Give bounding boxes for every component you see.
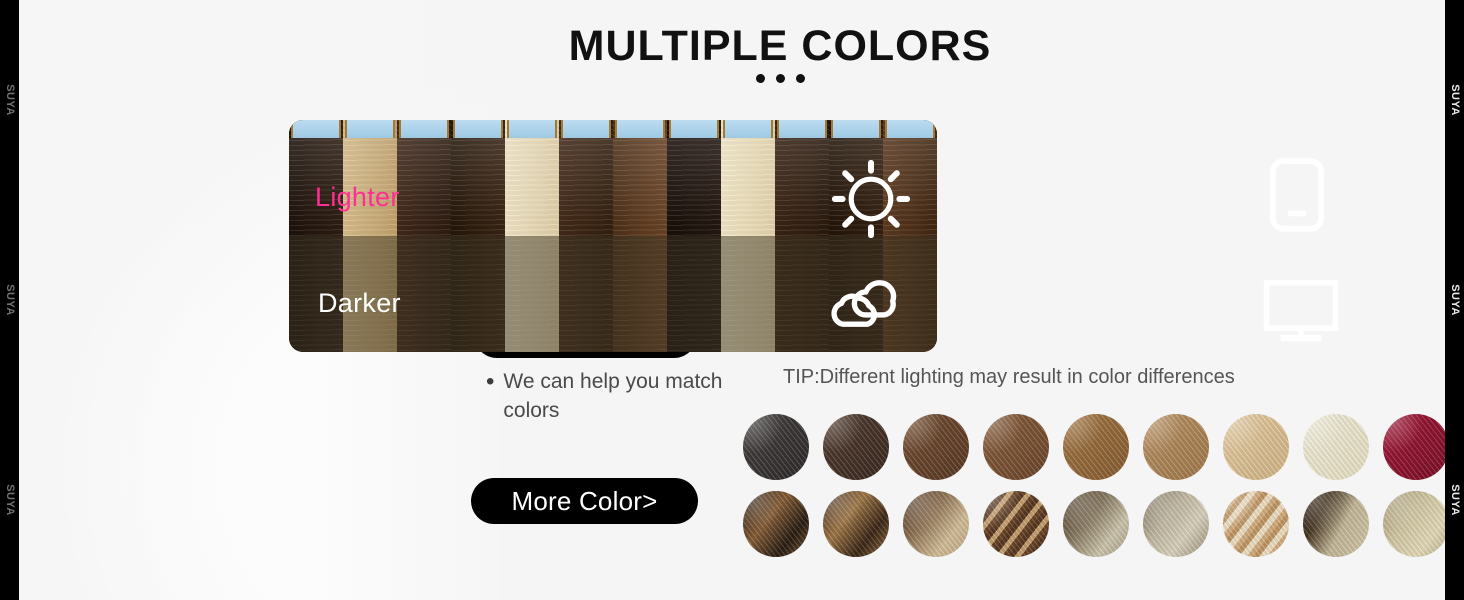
brand-watermark: SUYA	[1449, 84, 1461, 116]
sun-icon	[828, 156, 914, 242]
tape-tab	[291, 120, 341, 138]
watermark-slot: SUYA	[1445, 65, 1464, 135]
brand-watermark: SUYA	[1449, 484, 1461, 516]
hair-gloss	[1383, 414, 1423, 454]
promo-banner: SUYA SUYA SUYA SUYA SUYA SUYA	[0, 0, 1464, 600]
swatch-honey-blonde-striped[interactable]	[1223, 491, 1289, 557]
watermark-slot: SUYA	[0, 465, 19, 535]
swatch-dark-blonde[interactable]	[1223, 414, 1289, 480]
lighter-label: Lighter	[315, 182, 400, 213]
swatch-jet-black[interactable]	[743, 414, 809, 480]
tape-tab	[399, 120, 449, 138]
swatch-burgundy-red[interactable]	[1383, 414, 1449, 480]
tip-text: TIP:Different lighting may result in col…	[783, 366, 1235, 389]
swatch-brown-gold-striped[interactable]	[983, 491, 1049, 557]
decorative-dot	[796, 74, 805, 83]
color-swatch-grid	[743, 414, 1423, 568]
hair-gloss	[1303, 414, 1343, 454]
brand-watermark: SUYA	[1449, 284, 1461, 316]
hair-gloss	[1383, 491, 1423, 531]
tape-tab	[777, 120, 827, 138]
watermark-slot: SUYA	[0, 65, 19, 135]
hair-gloss	[1063, 491, 1103, 531]
brand-watermark: SUYA	[4, 84, 16, 116]
swatch-brown-ash-blend[interactable]	[1063, 491, 1129, 557]
hair-gloss	[1223, 414, 1263, 454]
tape-tab	[507, 120, 557, 138]
swatch-chestnut-brown[interactable]	[983, 414, 1049, 480]
hair-gloss	[1063, 414, 1103, 454]
swatch-row-solid	[743, 414, 1423, 480]
hair-gloss	[1303, 491, 1343, 531]
tape-tab	[453, 120, 503, 138]
tape-tab	[561, 120, 611, 138]
swatch-medium-brown[interactable]	[903, 414, 969, 480]
brand-watermark: SUYA	[4, 484, 16, 516]
hair-gloss	[743, 491, 783, 531]
right-watermark-bar: SUYA SUYA SUYA	[1445, 0, 1464, 600]
tape-tab	[669, 120, 719, 138]
swatch-platinum-blonde[interactable]	[1303, 414, 1369, 480]
darker-label: Darker	[318, 288, 401, 319]
tape-tab	[885, 120, 935, 138]
hair-gloss	[983, 491, 1023, 531]
swatch-dark-root-blonde[interactable]	[1303, 491, 1369, 557]
swatch-row-blended	[743, 491, 1423, 557]
page-title: MULTIPLE COLORS	[520, 22, 1040, 71]
more-color-button[interactable]: More Color>	[471, 478, 698, 524]
left-watermark-bar: SUYA SUYA SUYA	[0, 0, 19, 600]
monitor-icon	[1262, 278, 1340, 344]
hair-gloss	[823, 414, 863, 454]
swatch-black-caramel-blend[interactable]	[743, 491, 809, 557]
phone-icon	[1268, 156, 1326, 234]
swatch-light-brown[interactable]	[1143, 414, 1209, 480]
swatch-golden-brown[interactable]	[1063, 414, 1129, 480]
hair-gloss	[1223, 491, 1263, 531]
tape-tab	[345, 120, 395, 138]
cloud-icon	[826, 272, 918, 338]
brand-watermark: SUYA	[4, 284, 16, 316]
swatch-ash-blonde-blend[interactable]	[1143, 491, 1209, 557]
title-dots-decoration	[520, 74, 1040, 83]
bullet-text: We can help you match colors	[503, 368, 756, 425]
swatch-brown-caramel-blend[interactable]	[823, 491, 889, 557]
tape-tab	[615, 120, 665, 138]
watermark-slot: SUYA	[1445, 265, 1464, 335]
swatch-dark-brown[interactable]	[823, 414, 889, 480]
decorative-dot	[756, 74, 765, 83]
watermark-slot: SUYA	[1445, 465, 1464, 535]
swatch-sandy-blonde-blend[interactable]	[1383, 491, 1449, 557]
tape-tab	[723, 120, 773, 138]
hair-gloss	[903, 491, 943, 531]
watermark-slot: SUYA	[0, 265, 19, 335]
hair-gloss	[823, 491, 863, 531]
bullet-marker: •	[486, 368, 494, 396]
decorative-dot	[776, 74, 785, 83]
swatch-brown-beige-blend[interactable]	[903, 491, 969, 557]
tape-tab	[831, 120, 881, 138]
hair-gloss	[743, 414, 783, 454]
hair-gloss	[1143, 491, 1183, 531]
feature-bullet-color-match: • We can help you match colors	[486, 368, 756, 425]
hair-gloss	[983, 414, 1023, 454]
hair-gloss	[903, 414, 943, 454]
hair-gloss	[1143, 414, 1183, 454]
